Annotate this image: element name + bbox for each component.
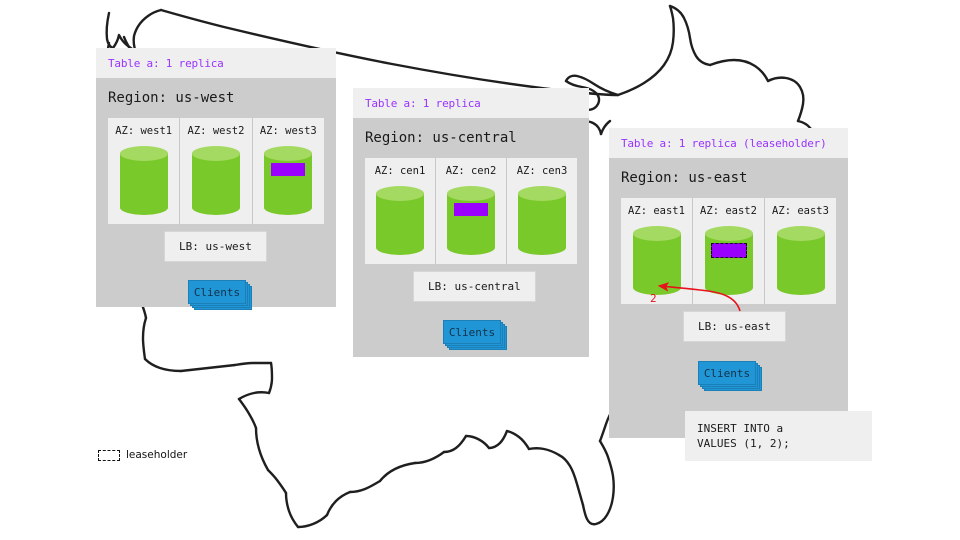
az-cell-west2[interactable]: AZ: west2 [180,118,252,224]
clients-button-us-east[interactable]: Clients [698,361,756,385]
panel-body-us-east: Region: us-east AZ: east1 AZ: east2 [609,158,848,438]
clients-stack-us-west[interactable]: Clients [188,280,246,304]
cylinder-body [447,193,495,247]
az-row-us-east: AZ: east1 AZ: east2 [621,198,836,304]
load-balancer-us-east[interactable]: LB: us-east [683,311,786,342]
az-label-cen3: AZ: cen3 [517,166,568,177]
cylinder-body [705,233,753,287]
cylinder-top [633,226,681,241]
panel-header-us-central: Table a: 1 replica [353,88,589,118]
cylinder-top [705,226,753,241]
az-label-east1: AZ: east1 [628,206,685,217]
az-cell-east3[interactable]: AZ: east3 [765,198,836,304]
sql-statement-box: INSERT INTO a VALUES (1, 2); [685,411,872,461]
cylinder-top [447,186,495,201]
az-cell-west1[interactable]: AZ: west1 [108,118,180,224]
region-panel-us-central: Table a: 1 replica Region: us-central AZ… [353,88,589,357]
node-cylinder-west1[interactable] [120,146,168,214]
node-cylinder-east2[interactable] [705,226,753,294]
cylinder-body [518,193,566,247]
az-cell-cen1[interactable]: AZ: cen1 [365,158,436,264]
cylinder-top [264,146,312,161]
panel-header-us-west: Table a: 1 replica [96,48,336,78]
region-title-us-west: Region: us-west [108,78,324,118]
replica-marker-west3 [271,163,305,176]
clients-button-us-west[interactable]: Clients [188,280,246,304]
load-balancer-us-central[interactable]: LB: us-central [413,271,536,302]
region-title-us-central: Region: us-central [365,118,577,158]
cylinder-top [192,146,240,161]
node-cylinder-west3[interactable] [264,146,312,214]
leaseholder-replica-marker-east2 [711,243,747,258]
cylinder-body [120,153,168,207]
az-cell-east1[interactable]: AZ: east1 [621,198,693,304]
clients-stack-us-east[interactable]: Clients [698,361,756,385]
diagram-canvas: Table a: 1 replica Region: us-west AZ: w… [0,0,960,540]
clients-stack-us-central[interactable]: Clients [443,320,501,344]
dashed-rectangle-icon [98,450,120,461]
node-cylinder-west2[interactable] [192,146,240,214]
az-cell-east2[interactable]: AZ: east2 [693,198,765,304]
az-cell-cen2[interactable]: AZ: cen2 [436,158,507,264]
az-label-west2: AZ: west2 [188,126,245,137]
region-panel-us-east: Table a: 1 replica (leaseholder) Region:… [609,128,848,438]
cylinder-top [376,186,424,201]
cylinder-body [777,233,825,287]
node-cylinder-east3[interactable] [777,226,825,294]
node-cylinder-cen3[interactable] [518,186,566,254]
az-row-us-central: AZ: cen1 AZ: cen2 [365,158,577,264]
node-cylinder-cen2[interactable] [447,186,495,254]
cylinder-body [192,153,240,207]
az-label-cen1: AZ: cen1 [375,166,426,177]
az-cell-cen3[interactable]: AZ: cen3 [507,158,577,264]
cylinder-top [777,226,825,241]
region-panel-us-west: Table a: 1 replica Region: us-west AZ: w… [96,48,336,307]
az-label-west3: AZ: west3 [260,126,317,137]
legend-label: leaseholder [126,450,187,461]
replica-marker-cen2 [454,203,488,216]
legend-leaseholder: leaseholder [98,450,187,461]
arrow-step-label-2: 2 [650,293,657,304]
cylinder-top [518,186,566,201]
az-label-east3: AZ: east3 [772,206,829,217]
node-cylinder-east1[interactable] [633,226,681,294]
clients-button-us-central[interactable]: Clients [443,320,501,344]
load-balancer-us-west[interactable]: LB: us-west [164,231,267,262]
az-label-east2: AZ: east2 [700,206,757,217]
az-cell-west3[interactable]: AZ: west3 [253,118,324,224]
region-title-us-east: Region: us-east [621,158,836,198]
node-cylinder-cen1[interactable] [376,186,424,254]
cylinder-top [120,146,168,161]
cylinder-body [376,193,424,247]
az-label-west1: AZ: west1 [115,126,172,137]
panel-body-us-west: Region: us-west AZ: west1 AZ: west2 [96,78,336,307]
cylinder-body [264,153,312,207]
az-label-cen2: AZ: cen2 [446,166,497,177]
panel-header-us-east: Table a: 1 replica (leaseholder) [609,128,848,158]
az-row-us-west: AZ: west1 AZ: west2 AZ [108,118,324,224]
cylinder-body [633,233,681,287]
